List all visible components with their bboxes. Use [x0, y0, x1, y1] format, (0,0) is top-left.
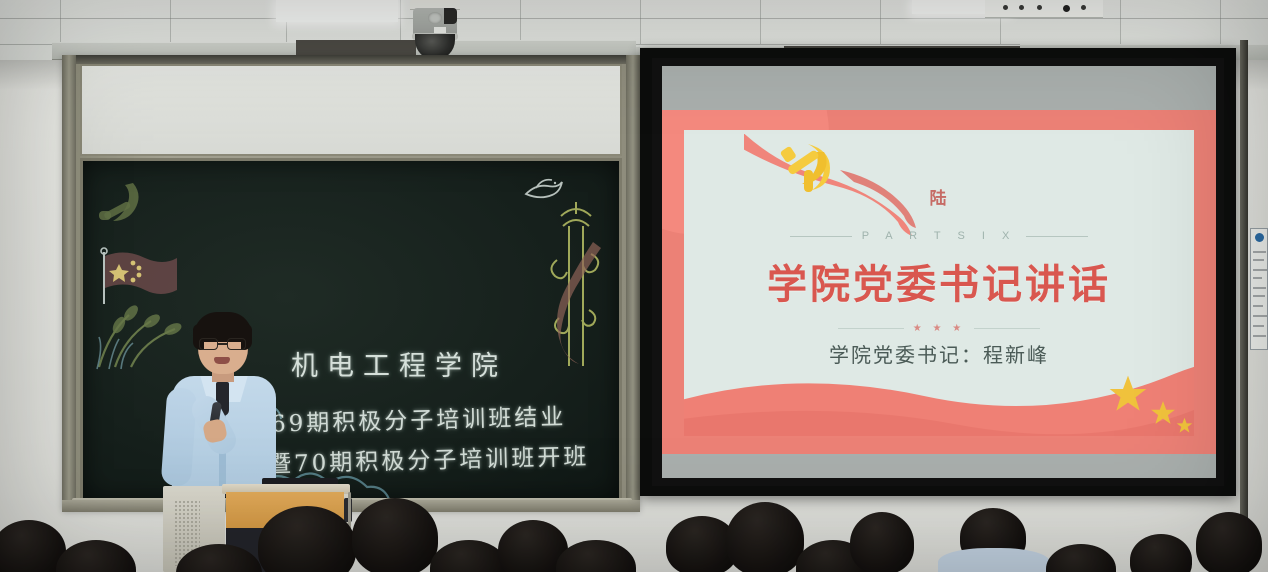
hammer-and-sickle-chalk-icon	[97, 179, 149, 227]
list-item	[938, 548, 1050, 572]
blackboard-line-3: 暨70期积极分子培训班开班	[268, 437, 590, 479]
presenter-mouth	[214, 357, 230, 364]
presentation-slide: 陆 P A R T S I X 学院党委书记讲话 ★ ★ ★ 学院党委书记：程新…	[662, 110, 1216, 454]
part-rule-left	[790, 236, 852, 237]
dots-rule-left	[838, 328, 904, 329]
projector-letterbox-bottom	[662, 454, 1216, 478]
projection-screen: 陆 P A R T S I X 学院党委书记讲话 ★ ★ ★ 学院党委书记：程新…	[662, 66, 1216, 478]
blackboard-upper-panel	[80, 64, 622, 156]
right-wall-pillar	[1240, 40, 1248, 520]
dots-rule-right	[974, 328, 1040, 329]
blackboard-post-right	[626, 55, 640, 512]
part-label-text: P A R T S I X	[862, 230, 1017, 242]
part-rule-right	[1026, 236, 1088, 237]
slide-title: 学院党委书记讲话	[684, 252, 1194, 310]
slide-divider-dots: ★ ★ ★	[684, 323, 1194, 334]
dots-text: ★ ★ ★	[913, 323, 965, 334]
ptz-dome-camera-icon	[404, 0, 466, 62]
blackboard-line-2: 69期积极分子培训班结业	[271, 397, 567, 438]
slide-part-label: P A R T S I X	[684, 230, 1194, 242]
gold-star-large	[1108, 374, 1148, 414]
projector-letterbox-top	[662, 66, 1216, 110]
blue-circular-logo-icon	[1255, 233, 1264, 242]
blackboard-title: 机电工程学院	[291, 344, 507, 383]
pillar-ribbon-chalk-icon	[543, 198, 609, 368]
lecture-hall-photo: 机电工程学院 69期积极分子培训班结业 暨70期积极分子培训班开班	[0, 0, 1268, 572]
eyeglasses-icon	[198, 338, 248, 350]
list-item	[850, 512, 914, 572]
list-item	[352, 498, 438, 572]
list-item	[1196, 512, 1262, 572]
slide-content-panel: 陆 P A R T S I X 学院党委书记讲话 ★ ★ ★ 学院党委书记：程新…	[684, 130, 1194, 436]
list-item	[726, 502, 804, 572]
recessed-light-panel	[276, 0, 398, 22]
wall-notice-poster	[1250, 228, 1268, 350]
blackboard-rail-top	[62, 55, 640, 64]
slide-section-number: 陆	[684, 184, 1194, 209]
gold-star-small	[1176, 417, 1193, 434]
projector-mount-icon	[985, 0, 1103, 18]
gold-star-medium	[1150, 400, 1176, 426]
blackboard-post-left	[62, 55, 76, 512]
